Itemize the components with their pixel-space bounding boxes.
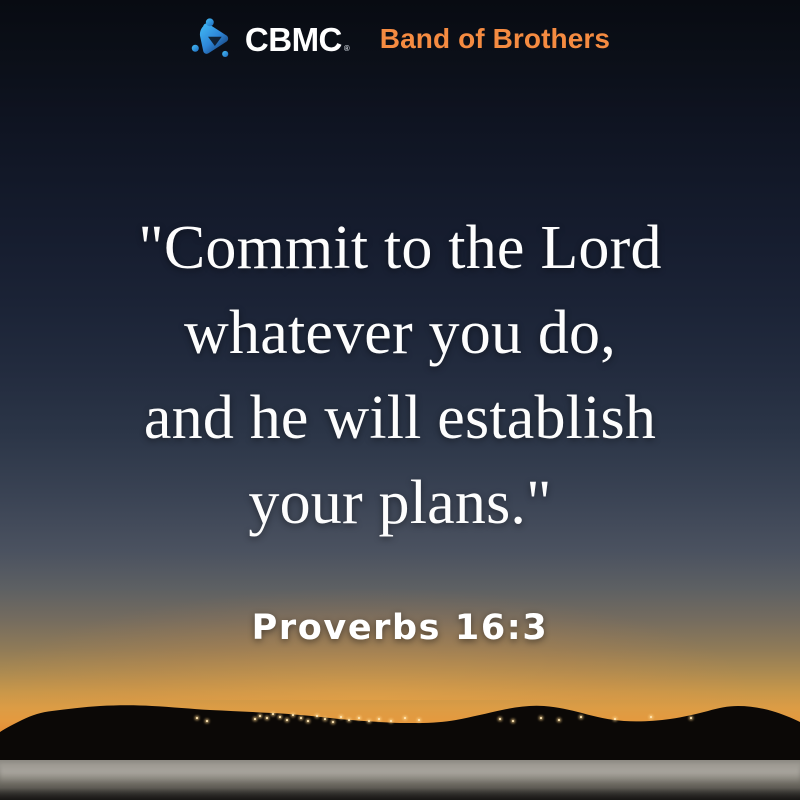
registered-trademark-icon: ®: [344, 45, 350, 56]
quote-line-2: whatever you do,: [0, 291, 800, 376]
cbmc-triangle-logo-icon: [190, 17, 234, 61]
cbmc-wordmark: CBMC ®: [245, 23, 350, 56]
quote-line-3: and he will establish: [0, 376, 800, 461]
water-dark-edge: [0, 788, 800, 800]
verse-poster: CBMC ® Band of Brothers "Commit to the L…: [0, 0, 800, 800]
cbmc-brand[interactable]: CBMC ®: [190, 17, 350, 61]
water-shimmer: [0, 762, 800, 784]
mountain-silhouette: [0, 670, 800, 760]
water-surface: [0, 754, 800, 800]
header-bar: CBMC ® Band of Brothers: [0, 0, 800, 78]
cbmc-wordmark-text: CBMC: [245, 23, 342, 56]
scripture-reference-label: Proverbs 16:3: [252, 608, 549, 648]
scripture-quote: "Commit to the Lord whatever you do, and…: [0, 206, 800, 546]
scripture-reference: Proverbs 16:3: [0, 608, 800, 648]
quote-line-1: "Commit to the Lord: [0, 206, 800, 291]
quote-line-4: your plans.": [0, 461, 800, 546]
program-title: Band of Brothers: [380, 25, 610, 53]
